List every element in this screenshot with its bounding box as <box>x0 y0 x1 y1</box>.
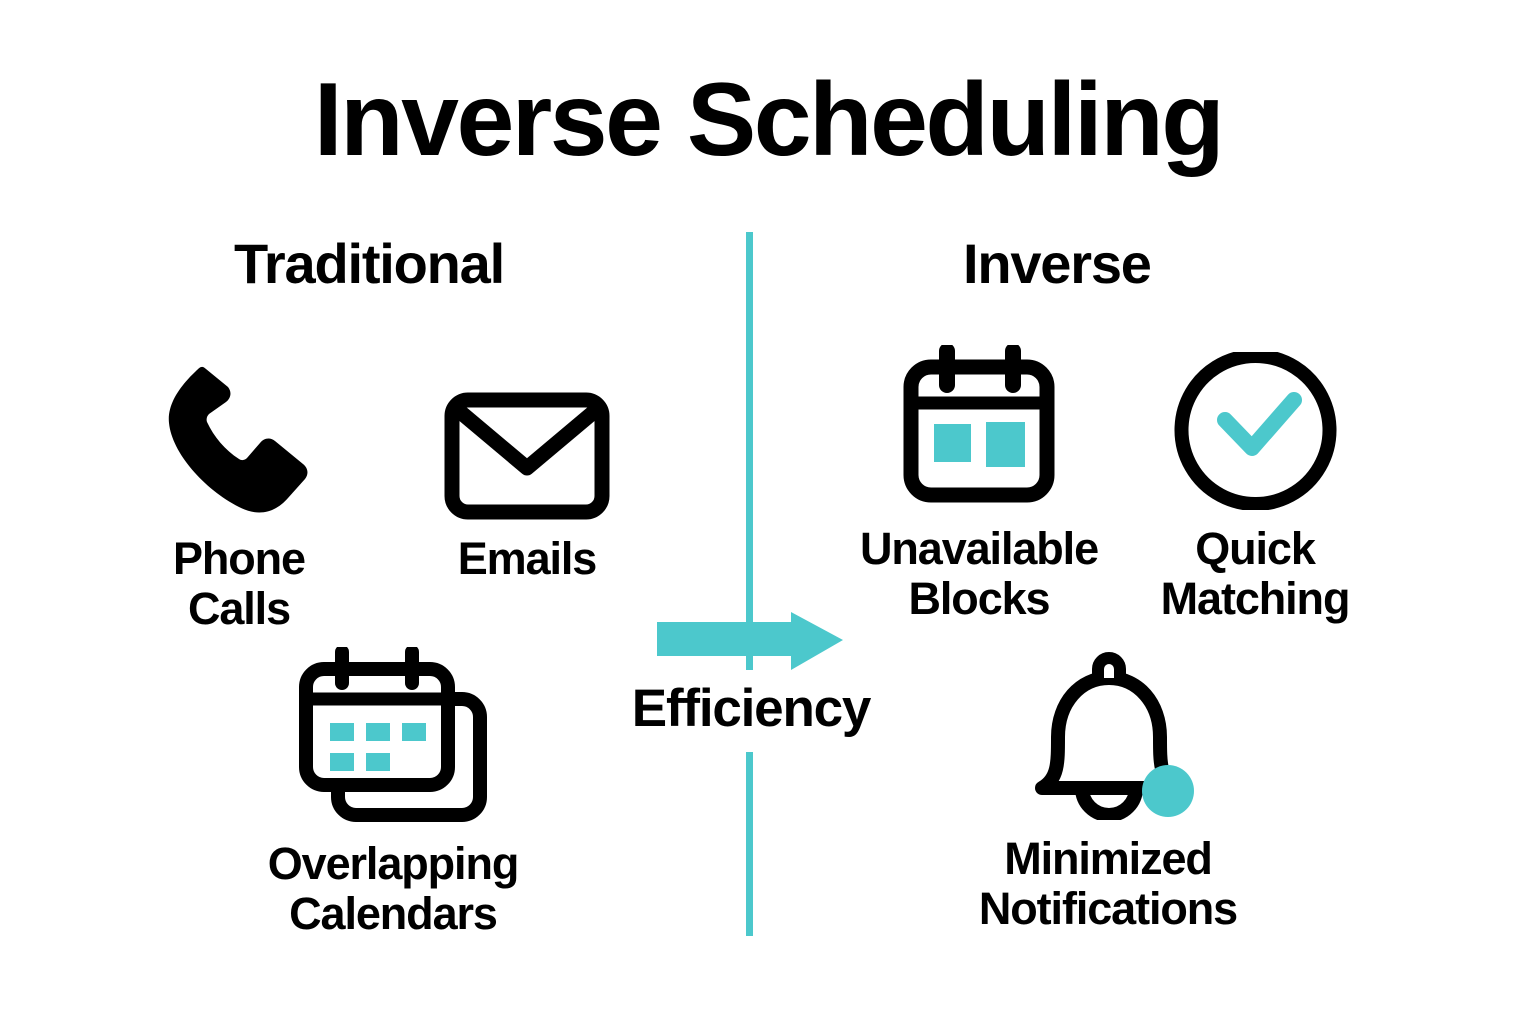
item-label-minimized-notifications: Minimized Notifications <box>979 834 1237 933</box>
item-quick-matching: Quick Matching <box>1130 340 1380 623</box>
efficiency-label: Efficiency <box>566 682 936 735</box>
item-overlapping-calendars: Overlapping Calendars <box>243 645 543 938</box>
phone-icon <box>159 350 319 520</box>
infographic-canvas: Inverse Scheduling Traditional Inverse P… <box>0 0 1536 1024</box>
item-minimized-notifications: Minimized Notifications <box>958 640 1258 933</box>
item-label-phone-calls: Phone Calls <box>173 534 305 633</box>
item-label-emails: Emails <box>458 534 597 584</box>
column-header-inverse: Inverse <box>963 236 1151 292</box>
overlapping-calendars-icon <box>290 645 496 825</box>
item-phone-calls: Phone Calls <box>108 350 370 633</box>
check-circle-icon <box>1173 340 1337 510</box>
column-header-traditional: Traditional <box>234 236 504 292</box>
vertical-divider-bottom <box>746 752 753 936</box>
item-label-overlapping-calendars: Overlapping Calendars <box>268 839 518 938</box>
item-label-quick-matching: Quick Matching <box>1161 524 1350 623</box>
envelope-icon <box>444 350 610 520</box>
item-emails: Emails <box>396 350 658 584</box>
item-label-unavailable-blocks: Unavailable Blocks <box>860 524 1098 623</box>
arrow-right-icon <box>657 612 843 674</box>
calendar-blocks-icon <box>893 340 1065 510</box>
bell-badge-icon <box>1020 640 1196 820</box>
item-unavailable-blocks: Unavailable Blocks <box>848 340 1110 623</box>
vertical-divider-top <box>746 232 753 670</box>
page-title: Inverse Scheduling <box>0 62 1536 178</box>
